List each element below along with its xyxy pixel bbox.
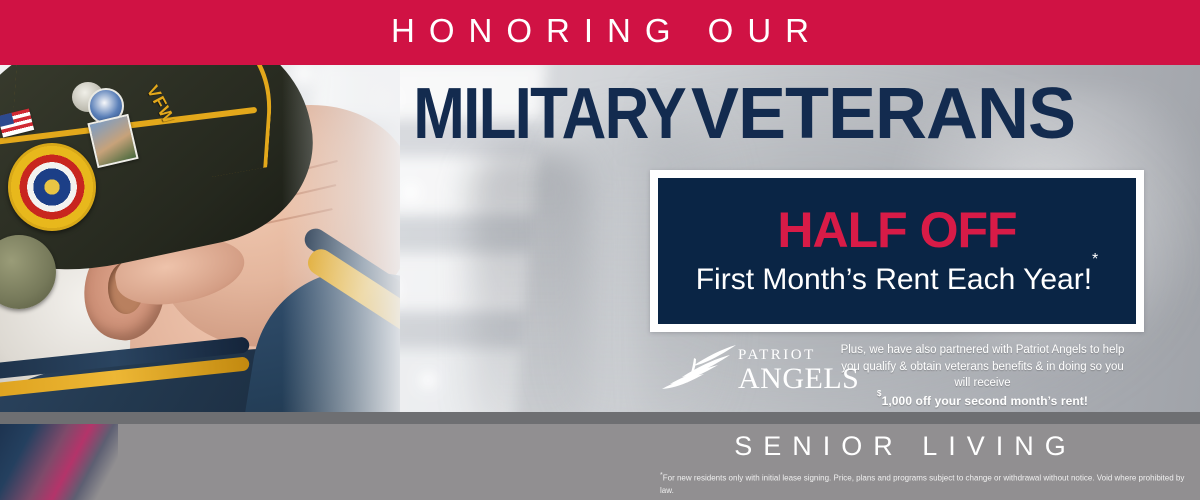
brand-name: SENIOR LIVING: [600, 433, 1200, 460]
offer-callout-box: HALF OFF First Month’s Rent Each Year!*: [650, 170, 1144, 332]
logo-word-patriot: PATRIOT: [738, 348, 859, 363]
patriot-angels-wordmark: PATRIOT ANGELS: [738, 348, 859, 394]
footer-bar: SENIOR LIVING *For new residents only wi…: [0, 424, 1200, 500]
legal-disclaimer: *For new residents only with initial lea…: [660, 471, 1186, 497]
offer-asterisk: *: [1092, 251, 1098, 268]
partner-body-text: Plus, we have also partnered with Patrio…: [841, 344, 1125, 389]
offer-headline: HALF OFF: [777, 205, 1016, 255]
headline-word-military: MILITARY: [413, 78, 685, 150]
eyebrow-text: HONORING OUR: [0, 14, 1200, 47]
disclaimer-text: For new residents only with initial leas…: [660, 474, 1184, 495]
logo-word-angels: ANGELS: [738, 364, 859, 394]
partner-offer-line: $1,000 off your second month’s rent!: [835, 392, 1130, 410]
partner-copy: Plus, we have also partnered with Patrio…: [835, 340, 1130, 410]
partner-section: PATRIOT ANGELS Plus, we have also partne…: [660, 340, 1130, 415]
page-title: MILITARYVETERANS: [0, 78, 1075, 150]
vfw-cross-emblem: [8, 143, 96, 231]
partner-offer-text: 1,000 off your second month’s rent!: [882, 394, 1088, 408]
patriot-angels-logo: PATRIOT ANGELS: [660, 340, 835, 346]
top-red-bar: HONORING OUR: [0, 0, 1200, 65]
veterans-promo-banner: ✱ ✱ ✱ ✱ ✱ ✱ ✱ ✱ VFW: [0, 0, 1200, 500]
footer-flag-sliver: [0, 424, 118, 500]
offer-subhead: First Month’s Rent Each Year!*: [696, 265, 1099, 295]
partner-currency-symbol: $: [877, 389, 882, 398]
headline-word-veterans: VETERANS: [691, 78, 1075, 150]
angel-wing-icon: [660, 344, 738, 399]
offer-box-inner: HALF OFF First Month’s Rent Each Year!*: [658, 178, 1136, 324]
offer-subhead-text: First Month’s Rent Each Year!: [696, 263, 1092, 296]
